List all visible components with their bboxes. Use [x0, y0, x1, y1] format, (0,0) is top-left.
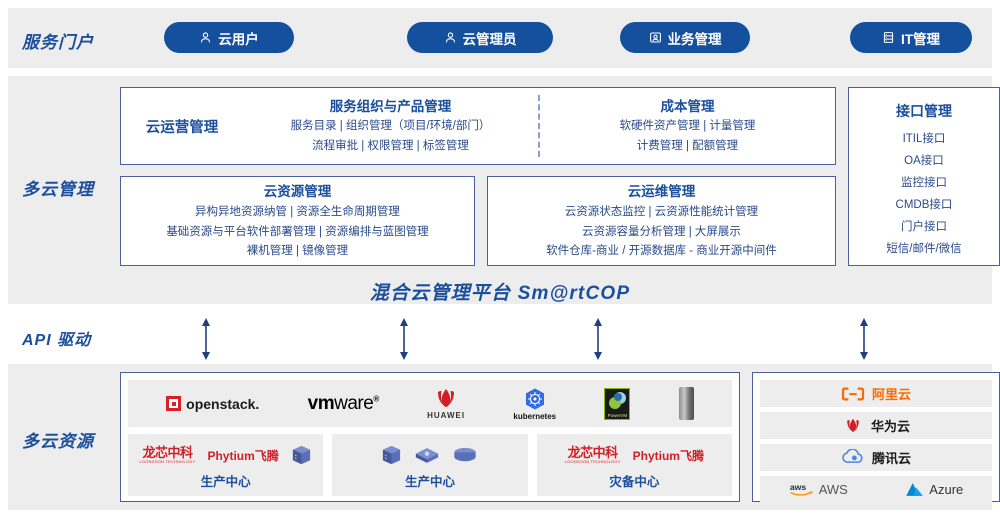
- api-arrow-1: [199, 318, 213, 360]
- tencent-cloud-logo: [841, 449, 865, 466]
- datacenter-production-2: 生产中心: [332, 434, 527, 496]
- vmware-logo: vmware®: [308, 393, 379, 415]
- kubernetes-helm-icon: [523, 387, 547, 411]
- multicloud-resources-band: openstack. vmware® HUAWEI: [8, 364, 992, 510]
- band-label-multicloud-management: 多云管理: [22, 175, 94, 200]
- multicloud-management-band: 云运营管理 服务组织与产品管理 服务目录 | 组织管理（项目/环境/部门） 流程…: [8, 76, 992, 304]
- server-cube-icon: [381, 445, 402, 466]
- api-arrow-4: [857, 318, 871, 360]
- huawei-logo: HUAWEI: [427, 388, 465, 420]
- server-tower-icon: [679, 387, 694, 420]
- aws-logo: aws AWS: [789, 481, 848, 498]
- aws-smile-icon: aws: [789, 481, 815, 498]
- portal-button-label: 云管理员: [463, 28, 517, 48]
- kubernetes-label: kubernetes: [513, 412, 556, 421]
- interface-item: ITIL接口: [886, 130, 961, 146]
- portal-button-label: IT管理: [901, 28, 940, 48]
- interface-item: 短信/邮件/微信: [886, 240, 961, 256]
- cloud-resource-management-box: 云资源管理 异构异地资源纳管 | 资源全生命周期管理 基础资源与平台软件部署管理…: [120, 176, 475, 266]
- datacenter-production-1: 龙芯中科 LOONGSON TECHNOLOGY Phytium飞腾 生产中心: [128, 434, 323, 496]
- server-rack-icon: [882, 31, 895, 44]
- band-label-multicloud-resources: 多云资源: [22, 427, 94, 452]
- diagram-root: 服务门户 云用户 云管理员 业务管理: [0, 0, 1000, 518]
- cloud-operations-box: 云运营管理 服务组织与产品管理 服务目录 | 组织管理（项目/环境/部门） 流程…: [120, 87, 836, 165]
- public-cloud-label: 阿里云: [872, 384, 911, 403]
- kubernetes-logo: kubernetes: [513, 387, 556, 421]
- interface-item: CMDB接口: [886, 196, 961, 212]
- loongson-logo: 龙芯中科 LOONGSON TECHNOLOGY: [565, 446, 621, 464]
- phytium-logo: Phytium飞腾: [633, 447, 704, 464]
- interface-list: ITIL接口 OA接口 监控接口 CMDB接口 门户接口 短信/邮件/微信: [886, 130, 961, 256]
- datacenter-name: 生产中心: [201, 471, 251, 490]
- azure-triangle-icon: [905, 482, 924, 498]
- cloud-resource-management-lines: 异构异地资源纳管 | 资源全生命周期管理 基础资源与平台软件部署管理 | 资源编…: [166, 203, 428, 262]
- azure-label: Azure: [929, 482, 963, 497]
- cloud-operations-side-label: 云运营管理: [121, 116, 243, 137]
- powervm-label: PowerVM: [605, 413, 629, 418]
- openstack-logo: openstack.: [166, 396, 259, 412]
- portal-button-label: 云用户: [218, 28, 259, 48]
- service-org-product-lines: 服务目录 | 组织管理（项目/环境/部门） 流程审批 | 权限管理 | 标签管理: [291, 117, 491, 157]
- user-icon: [199, 31, 212, 44]
- huawei-label: HUAWEI: [427, 411, 465, 420]
- datacenter-logos: [381, 442, 478, 468]
- public-cloud-aws-azure-row: aws AWS Azure: [760, 476, 992, 503]
- powervm-logo: PowerVM: [604, 388, 630, 420]
- interface-management-box: 接口管理 ITIL接口 OA接口 监控接口 CMDB接口 门户接口 短信/邮件/…: [848, 87, 1000, 266]
- service-org-product-column: 服务组织与产品管理 服务目录 | 组织管理（项目/环境/部门） 流程审批 | 权…: [243, 95, 538, 157]
- huawei-cloud-logo: [842, 418, 864, 434]
- portal-button-cloud-user[interactable]: 云用户: [164, 22, 294, 53]
- datacenter-name: 灾备中心: [609, 471, 659, 490]
- portal-button-it-mgmt[interactable]: IT管理: [850, 22, 972, 53]
- azure-logo: Azure: [905, 482, 963, 498]
- phytium-logo: Phytium飞腾: [207, 447, 278, 464]
- public-clouds-box: 阿里云 华为云 腾讯云 aws: [752, 372, 1000, 502]
- cloud-maintenance-management-lines: 云资源状态监控 | 云资源性能统计管理 云资源容量分析管理 | 大屏展示 软件仓…: [546, 203, 777, 262]
- portal-button-label: 业务管理: [668, 28, 722, 48]
- band-label-service-portal: 服务门户: [22, 28, 94, 53]
- vendor-logo-strip: openstack. vmware® HUAWEI: [128, 380, 732, 427]
- public-cloud-tencentcloud: 腾讯云: [760, 444, 992, 471]
- storage-disk-icon: [452, 447, 478, 463]
- aws-label: AWS: [819, 482, 848, 497]
- platform-title: 混合云管理平台 Sm@rtCOP: [8, 278, 992, 305]
- datacenter-logos: 龙芯中科 LOONGSON TECHNOLOGY Phytium飞腾: [565, 442, 704, 468]
- loongson-logo: 龙芯中科 LOONGSON TECHNOLOGY: [140, 446, 196, 464]
- band-label-api-driven: API 驱动: [22, 326, 91, 350]
- portal-button-cloud-admin[interactable]: 云管理员: [407, 22, 553, 53]
- portal-button-business-mgmt[interactable]: 业务管理: [620, 22, 750, 53]
- public-cloud-huaweicloud: 华为云: [760, 412, 992, 439]
- svg-text:aws: aws: [790, 482, 807, 492]
- public-cloud-aliyun: 阿里云: [760, 380, 992, 407]
- api-arrow-3: [591, 318, 605, 360]
- business-window-icon: [649, 31, 662, 44]
- cost-management-lines: 软硬件资产管理 | 计量管理 计费管理 | 配额管理: [620, 117, 756, 157]
- private-resources-box: openstack. vmware® HUAWEI: [120, 372, 740, 502]
- server-cube-icon: [291, 445, 312, 466]
- interface-item: OA接口: [886, 152, 961, 168]
- alibaba-cloud-logo: [841, 386, 865, 402]
- openstack-mark-icon: [166, 396, 181, 411]
- cloud-maintenance-management-box: 云运维管理 云资源状态监控 | 云资源性能统计管理 云资源容量分析管理 | 大屏…: [487, 176, 836, 266]
- switch-icon: [414, 445, 440, 466]
- datacenter-name: 生产中心: [405, 471, 455, 490]
- cost-management-column: 成本管理 软硬件资产管理 | 计量管理 计费管理 | 配额管理: [540, 95, 835, 157]
- interface-item: 门户接口: [886, 218, 961, 234]
- datacenter-strip: 龙芯中科 LOONGSON TECHNOLOGY Phytium飞腾 生产中心: [128, 434, 732, 496]
- datacenter-disaster-recovery: 龙芯中科 LOONGSON TECHNOLOGY Phytium飞腾 灾备中心: [537, 434, 732, 496]
- api-arrow-2: [397, 318, 411, 360]
- public-cloud-label: 华为云: [871, 416, 910, 435]
- interface-item: 监控接口: [886, 174, 961, 190]
- user-admin-icon: [444, 31, 457, 44]
- datacenter-logos: 龙芯中科 LOONGSON TECHNOLOGY Phytium飞腾: [140, 442, 312, 468]
- openstack-label: openstack.: [186, 396, 259, 412]
- public-cloud-label: 腾讯云: [872, 448, 911, 467]
- huawei-petal-icon: [431, 388, 461, 410]
